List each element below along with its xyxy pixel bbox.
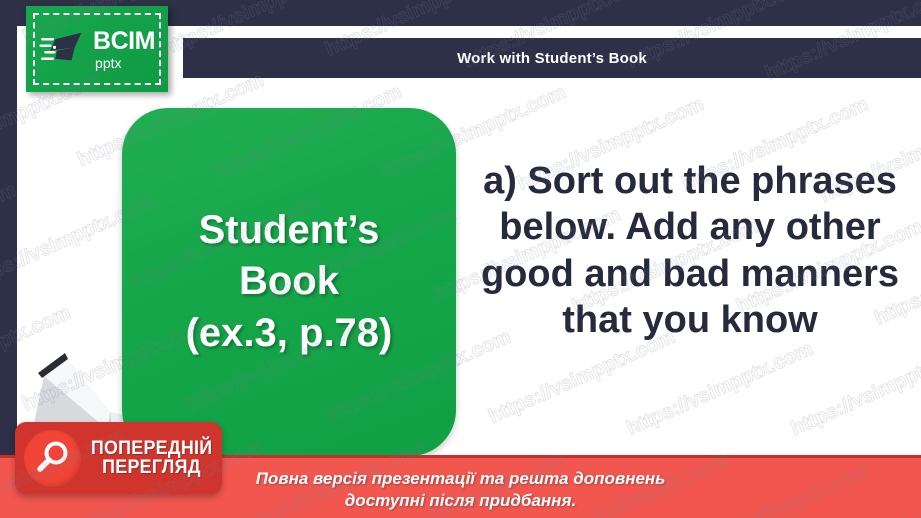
graduation-cap-icon [39, 23, 91, 75]
task-instruction-text: a) Sort out the phrases below. Add any o… [466, 158, 914, 343]
presentation-slide: Work with Student’s Book BCIM pp [0, 0, 921, 518]
card-line-1: Student’s [199, 208, 380, 252]
badge-icon-circle [24, 430, 81, 487]
card-line-2: Book [239, 259, 339, 303]
preview-badge-labels: ПОПЕРЕДНІЙ ПЕРЕГЛЯД [81, 439, 222, 478]
purchase-notice-line-1: Повна версія презентації та решта доповн… [256, 469, 666, 488]
student-book-card-label: Student’s Book (ex.3, p.78) [172, 205, 407, 359]
page-title: Work with Student’s Book [457, 50, 647, 67]
slide-header-bar: Work with Student’s Book [183, 38, 921, 78]
bcim-logo: BCIM pptx [26, 6, 168, 92]
magnifier-icon [33, 438, 73, 478]
preview-badge-line-2: ПЕРЕГЛЯД [102, 458, 201, 477]
logo-title: BCIM [93, 29, 155, 54]
logo-subtitle: pptx [95, 56, 121, 70]
purchase-notice-line-2: доступні після придбання. [345, 491, 576, 510]
purchase-notice-text: Повна версія презентації та решта доповн… [256, 468, 666, 512]
student-book-card[interactable]: Student’s Book (ex.3, p.78) [122, 108, 456, 456]
preview-badge-line-1: ПОПЕРЕДНІЙ [91, 439, 213, 458]
preview-badge: ПОПЕРЕДНІЙ ПЕРЕГЛЯД [15, 422, 222, 494]
card-line-3: (ex.3, p.78) [186, 311, 393, 355]
